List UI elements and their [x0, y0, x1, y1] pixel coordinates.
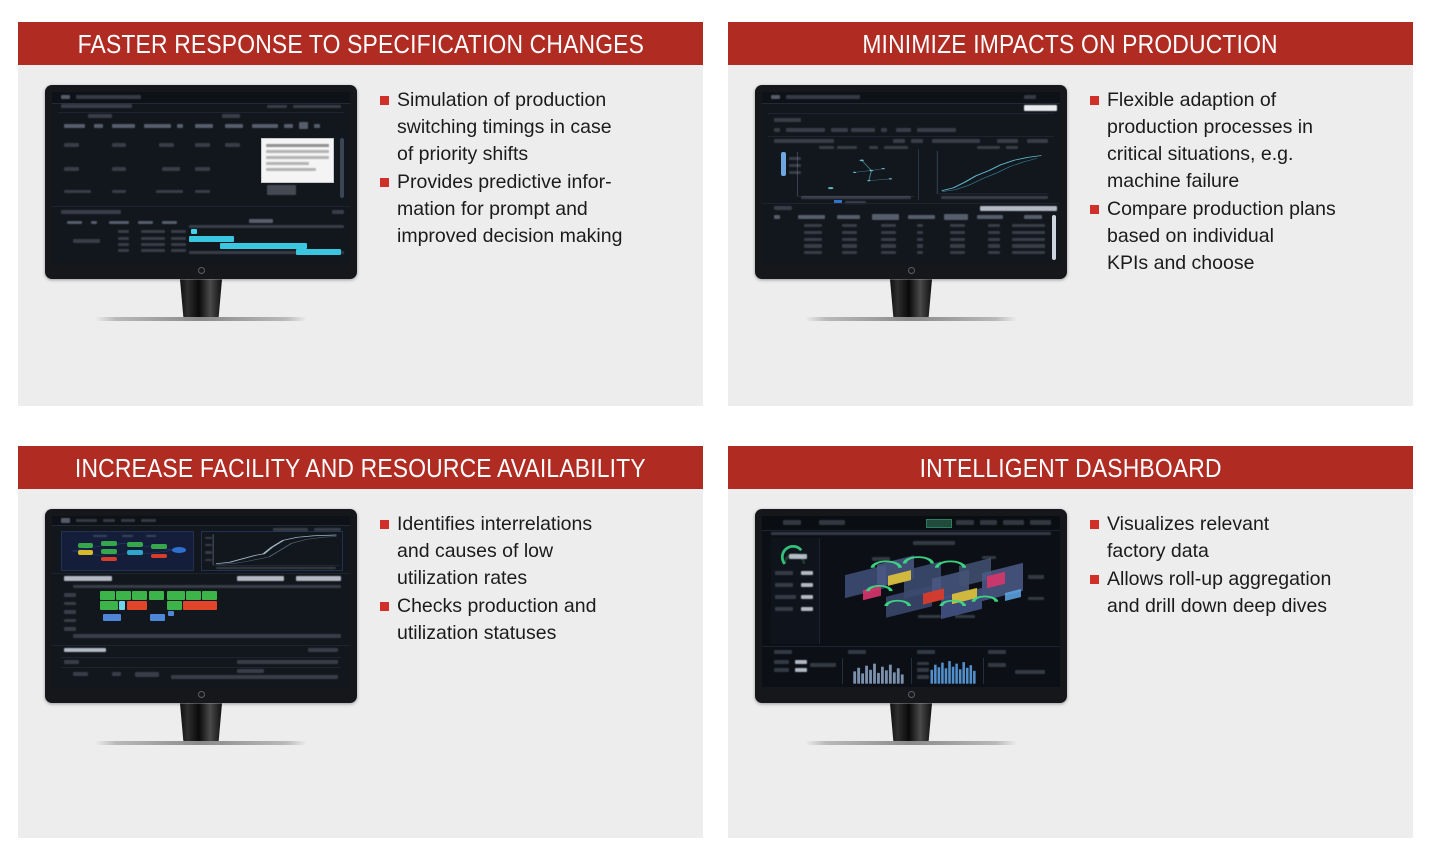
gantt-section-action	[332, 210, 344, 214]
legend-entry	[1006, 146, 1018, 149]
bullet-list: Visualizes relevant factory data Allows …	[1090, 511, 1397, 621]
gantt-row-value	[141, 237, 165, 240]
chart-section-title	[774, 139, 834, 143]
monitor-graphic	[36, 509, 366, 745]
details-section-title	[64, 648, 106, 652]
schedule-block[interactable]	[167, 591, 185, 600]
gantt-section-title	[61, 210, 121, 214]
flow-label	[146, 535, 156, 538]
flow-node[interactable]	[151, 554, 167, 559]
x-tick-labels	[801, 196, 911, 199]
flow-node[interactable]	[127, 542, 143, 547]
table-col-header	[908, 215, 935, 218]
panel-increase-availability: INCREASE FACILITY AND RESOURCE AVAILABIL…	[18, 446, 703, 838]
chart-action[interactable]	[1027, 139, 1048, 143]
details-value	[237, 660, 338, 664]
divider	[58, 112, 344, 113]
bullet-list: Flexible adaption of production processe…	[1090, 87, 1397, 278]
bullet-square-icon	[380, 178, 389, 187]
monitor-neck	[890, 703, 932, 741]
gantt-row-label	[118, 237, 130, 240]
cell	[1012, 238, 1045, 241]
details-action[interactable]	[308, 648, 338, 652]
table-col-header	[774, 215, 780, 218]
scene-label	[982, 556, 996, 559]
app-title-text	[786, 95, 861, 99]
widget-metric-label	[774, 660, 789, 664]
chart-legend	[314, 528, 341, 531]
divider	[762, 646, 1060, 647]
feature-grid: FASTER RESPONSE TO SPECIFICATION CHANGES	[0, 0, 1440, 861]
resource-utilization-scheduler-screen	[52, 516, 350, 687]
popup-row	[266, 150, 329, 153]
filter-label	[896, 128, 911, 132]
filter-icon[interactable]	[881, 128, 887, 132]
bullet-list: Identifies interrelations and causes of …	[380, 511, 687, 648]
panel-intelligent-dashboard: INTELLIGENT DASHBOARD	[728, 446, 1413, 838]
bullet-text: Checks production and utilization status…	[397, 593, 596, 647]
y-tick-label	[205, 537, 212, 539]
gantt-timeline-axis	[189, 225, 344, 228]
bullet-text: Identifies interrelations and causes of …	[397, 511, 592, 592]
cell	[195, 143, 210, 147]
table-col-header	[944, 214, 968, 221]
cell	[112, 143, 127, 147]
table-col-header	[1024, 215, 1042, 218]
panel-header: MINIMIZE IMPACTS ON PRODUCTION	[728, 22, 1413, 65]
menu-item[interactable]	[141, 519, 156, 522]
gantt-bar[interactable]	[220, 243, 306, 249]
legend-entry	[884, 146, 908, 149]
list-item: Compare production plans based on indivi…	[1090, 196, 1397, 277]
colgroup-label-2	[222, 114, 240, 117]
schedule-block[interactable]	[132, 591, 147, 600]
col-header	[225, 124, 243, 128]
filter-section-label	[774, 118, 801, 122]
flow-node[interactable]	[151, 544, 167, 549]
widget-caption	[810, 663, 837, 666]
widget-title	[988, 650, 1006, 654]
gantt-row-label	[118, 249, 130, 252]
widget-metric-label	[917, 662, 929, 665]
cell	[881, 251, 896, 254]
bullet-text: Flexible adaption of production processe…	[1107, 87, 1313, 195]
y-tick-label	[789, 171, 801, 174]
panel-title: INTELLIGENT DASHBOARD	[919, 455, 1221, 481]
utilization-trend-chart	[201, 531, 343, 571]
schedule-block[interactable]	[103, 614, 121, 621]
search-input[interactable]	[1024, 105, 1057, 111]
gantt-col-header	[162, 221, 177, 225]
scene-label	[1028, 575, 1044, 578]
panel-header: INTELLIGENT DASHBOARD	[728, 446, 1413, 489]
cell	[804, 251, 822, 254]
gantt-row-label	[118, 243, 130, 246]
flow-node[interactable]	[101, 557, 117, 562]
gantt-bar[interactable]	[189, 236, 234, 242]
cell	[1012, 251, 1045, 254]
bullet-square-icon	[380, 520, 389, 529]
colgroup-label-1	[88, 114, 112, 117]
monitor-base	[95, 317, 307, 321]
schedule-block[interactable]	[167, 601, 182, 610]
table-col-header	[977, 215, 1004, 218]
scheduler-action[interactable]	[237, 576, 285, 581]
gantt-row-value	[171, 230, 186, 233]
monitor-base	[95, 741, 307, 745]
x-tick-labels	[941, 196, 1048, 199]
menu-item[interactable]	[121, 519, 136, 522]
cell	[225, 143, 240, 147]
scheduler-time-axis-bottom	[73, 634, 341, 637]
toolbar-value	[293, 105, 341, 108]
nav-tab[interactable]	[1030, 520, 1051, 524]
utilization-trend-svg	[202, 532, 342, 570]
col-header	[252, 124, 279, 128]
resource-row-label	[64, 593, 76, 596]
bullet-square-icon	[380, 96, 389, 105]
panel-body: Identifies interrelations and causes of …	[18, 489, 703, 838]
cell	[804, 238, 822, 241]
divider	[52, 573, 350, 574]
bullet-text: Visualizes relevant factory data	[1107, 511, 1269, 565]
cell	[881, 231, 896, 234]
divider	[983, 658, 984, 684]
cell	[917, 251, 923, 254]
app-logo-icon	[61, 95, 70, 99]
kpi-label	[775, 607, 793, 611]
cell	[950, 238, 965, 241]
cell	[1012, 244, 1045, 247]
schedule-block[interactable]	[186, 591, 201, 600]
resource-row-label	[64, 610, 76, 613]
table-col-header	[798, 215, 825, 218]
gantt-row-value	[141, 243, 165, 246]
cell	[988, 224, 1000, 227]
toolbar-label	[267, 105, 288, 108]
schedule-block[interactable]	[149, 591, 164, 600]
divider	[768, 136, 1054, 137]
resource-row-label	[64, 627, 76, 630]
legend-entry	[819, 146, 834, 149]
filter-field[interactable]	[851, 128, 875, 132]
schedule-block[interactable]	[127, 601, 148, 610]
divider	[762, 203, 1060, 204]
gantt-bar[interactable]	[191, 229, 197, 233]
bullet-square-icon	[1090, 520, 1099, 529]
list-item: Visualizes relevant factory data	[1090, 511, 1397, 565]
factory-3d-dashboard-screen	[762, 516, 1060, 687]
schedule-block[interactable]	[202, 591, 217, 600]
scatter-chart	[795, 152, 914, 198]
bullet-text: Allows roll-up aggregation and drill dow…	[1107, 566, 1331, 620]
flow-node[interactable]	[78, 543, 94, 548]
breadcrumb-bar	[771, 532, 1051, 535]
col-header	[112, 124, 136, 128]
monitor-graphic	[746, 85, 1076, 321]
schedule-block[interactable]	[100, 591, 115, 600]
cell	[917, 244, 923, 247]
kpi-value	[801, 607, 813, 611]
chart-tab[interactable]	[893, 139, 905, 143]
cell	[64, 190, 91, 194]
popup-title	[266, 144, 329, 147]
cell	[950, 251, 965, 254]
monitor-neck	[890, 279, 932, 317]
col-header	[64, 124, 85, 128]
widget-metric-value	[795, 660, 807, 664]
schedule-marker[interactable]	[168, 611, 174, 616]
bullet-text: Compare production plans based on indivi…	[1107, 196, 1336, 277]
schedule-block[interactable]	[119, 601, 125, 610]
divider	[52, 206, 350, 207]
list-item: Simulation of production switching timin…	[380, 87, 687, 168]
details-label	[73, 672, 88, 676]
line-chart	[935, 150, 1048, 196]
schedule-block[interactable]	[150, 614, 165, 621]
gantt-row-value	[171, 237, 186, 240]
chart-section-title-2	[932, 139, 980, 143]
filter-field[interactable]	[917, 128, 956, 132]
details-axis	[171, 675, 338, 679]
divider	[911, 658, 912, 684]
cell	[881, 224, 896, 227]
widget-metric-label	[917, 675, 929, 678]
panel-header: INCREASE FACILITY AND RESOURCE AVAILABIL…	[18, 446, 703, 489]
bullet-text: Simulation of production switching timin…	[397, 87, 612, 168]
cell	[842, 238, 857, 241]
list-item: Flexible adaption of production processe…	[1090, 87, 1397, 195]
panel-body: Simulation of production switching timin…	[18, 65, 703, 406]
flow-label	[122, 535, 132, 538]
gantt-bar[interactable]	[296, 249, 341, 255]
cell	[804, 244, 822, 247]
factory-flow-diagram	[61, 531, 194, 571]
scheduler-time-axis	[73, 585, 341, 588]
widget-metric-value	[795, 668, 807, 672]
y-axis-indicator	[781, 152, 785, 176]
list-item: Provides predictive infor- mation for pr…	[380, 169, 687, 250]
widget-metric-label	[917, 668, 929, 671]
resource-row-label	[64, 619, 76, 622]
cell	[917, 238, 923, 241]
popup-row	[266, 162, 309, 165]
widget-bar-chart-svg	[929, 658, 980, 684]
status-arc-overlay	[822, 538, 1051, 644]
kpi-value	[801, 571, 813, 575]
monitor-bezel	[45, 509, 357, 703]
cell	[881, 244, 896, 247]
filter-icon[interactable]	[774, 128, 780, 132]
divider	[768, 113, 1054, 114]
nav-brand	[783, 520, 801, 524]
nav-tab[interactable]	[1003, 520, 1024, 524]
schedule-block[interactable]	[183, 601, 217, 610]
window-controls-icon[interactable]	[1024, 95, 1036, 99]
widget-metric-label	[774, 668, 789, 672]
bullet-square-icon	[1090, 575, 1099, 584]
menu-item[interactable]	[76, 519, 97, 522]
legend-entry	[837, 146, 858, 149]
details-caption	[237, 669, 264, 672]
cell	[112, 167, 127, 171]
chart-tab[interactable]	[911, 139, 923, 143]
gantt-row-value	[141, 230, 165, 233]
panel-title: FASTER RESPONSE TO SPECIFICATION CHANGES	[77, 31, 643, 57]
y-tick-label	[205, 559, 212, 561]
bullet-square-icon	[1090, 96, 1099, 105]
flow-node[interactable]	[78, 550, 94, 555]
col-header	[284, 124, 293, 128]
app-logo-icon	[771, 95, 780, 99]
flow-node[interactable]	[101, 549, 117, 554]
nav-tab-active[interactable]	[926, 519, 952, 528]
monitor-bezel	[755, 509, 1067, 703]
nav-title	[819, 520, 846, 524]
filter-field[interactable]	[786, 128, 825, 132]
monitor-base	[805, 741, 1017, 745]
col-header	[299, 122, 308, 129]
table-section-title	[774, 206, 792, 210]
kpi-gauge-value	[789, 554, 807, 559]
divider	[52, 645, 350, 646]
scatter-chart-svg	[795, 152, 914, 198]
table-toolbar[interactable]	[980, 206, 1057, 211]
gantt-row-label	[73, 239, 100, 242]
app-menubar	[52, 516, 350, 526]
panel-title: MINIMIZE IMPACTS ON PRODUCTION	[863, 31, 1278, 57]
cell	[195, 167, 210, 171]
resource-row-label	[64, 602, 76, 605]
bullet-list: Simulation of production switching timin…	[380, 87, 687, 251]
table-col-header	[837, 215, 861, 218]
scheduler-section-title	[64, 576, 112, 581]
widget-bar-chart-svg	[851, 658, 908, 684]
flow-node[interactable]	[127, 550, 143, 555]
cell	[881, 238, 896, 241]
table-col-header	[872, 214, 899, 221]
divider	[842, 658, 843, 684]
app-logo-icon	[61, 518, 70, 522]
popup-row	[266, 168, 316, 171]
filter-label	[831, 128, 849, 132]
gantt-col-header	[109, 221, 130, 225]
cell	[112, 190, 127, 194]
kpi-label	[775, 595, 796, 599]
cell	[950, 224, 965, 227]
gantt-row-value	[171, 243, 186, 246]
widget-bar-chart	[851, 658, 908, 684]
nav-tab[interactable]	[980, 520, 998, 524]
flow-label	[93, 535, 106, 538]
cell	[159, 143, 174, 147]
cell	[988, 251, 1000, 254]
gantt-row-value	[141, 249, 165, 252]
divider	[918, 149, 919, 200]
factory-3d-scene[interactable]	[822, 538, 1051, 644]
vertical-scrollbar[interactable]	[340, 138, 344, 198]
list-item: Checks production and utilization status…	[380, 593, 687, 647]
scene-label	[1028, 597, 1044, 600]
monitor-bezel	[45, 85, 357, 279]
popup-thumbnail	[267, 185, 297, 195]
legend-entry	[977, 146, 1001, 149]
gantt-row-label	[118, 230, 130, 233]
scheduler-action[interactable]	[296, 576, 341, 581]
cell	[842, 244, 857, 247]
details-value	[112, 672, 121, 676]
cell	[988, 244, 1000, 247]
nav-tab[interactable]	[956, 520, 974, 524]
y-tick-label	[789, 157, 801, 160]
y-tick-label	[205, 551, 212, 553]
flow-node-sink[interactable]	[172, 547, 186, 553]
col-header	[94, 124, 103, 128]
cell	[917, 231, 923, 234]
list-item: Allows roll-up aggregation and drill dow…	[1090, 566, 1397, 620]
flow-node[interactable]	[101, 541, 117, 546]
monitor-base	[805, 317, 1017, 321]
widget-title	[917, 650, 935, 654]
cell	[842, 231, 857, 234]
schedule-block[interactable]	[100, 601, 118, 610]
panel-body: Flexible adaption of production processe…	[728, 65, 1413, 406]
col-header	[314, 124, 320, 128]
cell	[162, 167, 180, 171]
y-tick-label	[205, 544, 212, 546]
chart-action[interactable]	[997, 139, 1018, 143]
popup-row	[266, 156, 329, 159]
x-tick-labels	[216, 567, 336, 569]
cell	[64, 143, 79, 147]
chart-legend	[273, 528, 309, 531]
panel-title: INCREASE FACILITY AND RESOURCE AVAILABIL…	[75, 455, 646, 481]
panel-header: FASTER RESPONSE TO SPECIFICATION CHANGES	[18, 22, 703, 65]
col-header	[144, 124, 171, 128]
cell	[804, 224, 822, 227]
gantt-col-header	[67, 221, 82, 225]
bullet-square-icon	[1090, 205, 1099, 214]
gantt-row-value	[171, 249, 186, 252]
scene-label	[872, 557, 890, 560]
schedule-block[interactable]	[116, 591, 131, 600]
gantt-timeline-label	[249, 219, 273, 223]
monitor-bezel	[755, 85, 1067, 279]
panel-body: Visualizes relevant factory data Allows …	[728, 489, 1413, 838]
cell	[917, 224, 923, 227]
cell	[195, 190, 210, 194]
monitor-neck	[180, 279, 222, 317]
details-control[interactable]	[135, 672, 159, 677]
app-title-text	[76, 95, 142, 99]
popup-report-card	[261, 138, 335, 183]
cell	[1012, 231, 1045, 234]
table-caption	[61, 104, 133, 108]
bullet-square-icon	[380, 602, 389, 611]
panel-minimize-impacts: MINIMIZE IMPACTS ON PRODUCTION	[728, 22, 1413, 406]
production-scheduling-gantt-screen	[52, 92, 350, 263]
cell	[950, 244, 965, 247]
bullet-text: Provides predictive infor- mation for pr…	[397, 169, 622, 250]
cell	[988, 238, 1000, 241]
widget-title	[774, 650, 792, 654]
divider	[61, 657, 341, 658]
divider	[61, 667, 341, 668]
vertical-scrollbar[interactable]	[1052, 215, 1056, 260]
kpi-value	[801, 583, 813, 587]
cell	[842, 251, 857, 254]
menu-item[interactable]	[103, 519, 115, 522]
